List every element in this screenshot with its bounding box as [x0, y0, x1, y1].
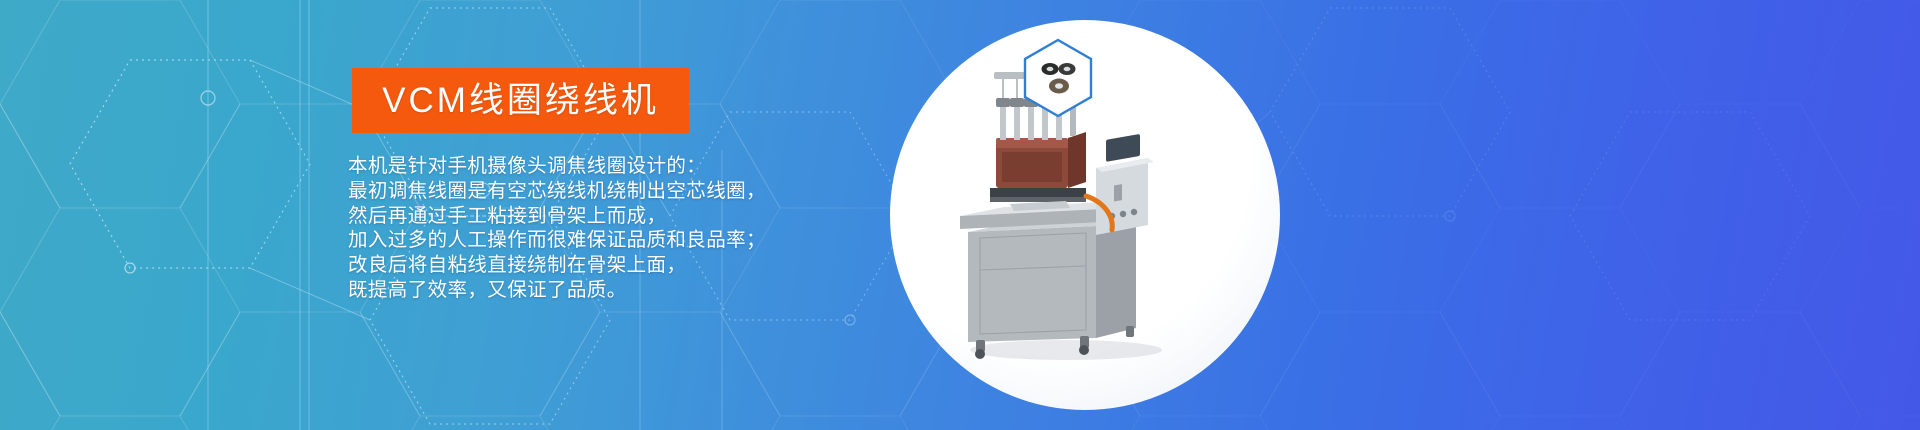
title-block: VCM线圈绕线机	[352, 68, 689, 133]
description-line: 最初调焦线圈是有空芯绕线机绕制出空芯线圈，	[348, 179, 908, 204]
description-line: 既提高了效率，又保证了品质。	[348, 278, 908, 303]
coil-samples-hex-badge	[1022, 38, 1094, 118]
description-text: 本机是针对手机摄像头调焦线圈设计的： 最初调焦线圈是有空芯绕线机绕制出空芯线圈，…	[348, 154, 908, 303]
description-line: 然后再通过手工粘接到骨架上而成，	[348, 204, 908, 229]
page-title: VCM线圈绕线机	[382, 83, 659, 118]
description-line: 本机是针对手机摄像头调焦线圈设计的：	[348, 154, 908, 179]
description-line: 加入过多的人工操作而很难保证品质和良品率；	[348, 228, 908, 253]
description-line: 改良后将自粘线直接绕制在骨架上面，	[348, 253, 908, 278]
promo-banner: VCM线圈绕线机 本机是针对手机摄像头调焦线圈设计的： 最初调焦线圈是有空芯绕线…	[0, 0, 1920, 430]
